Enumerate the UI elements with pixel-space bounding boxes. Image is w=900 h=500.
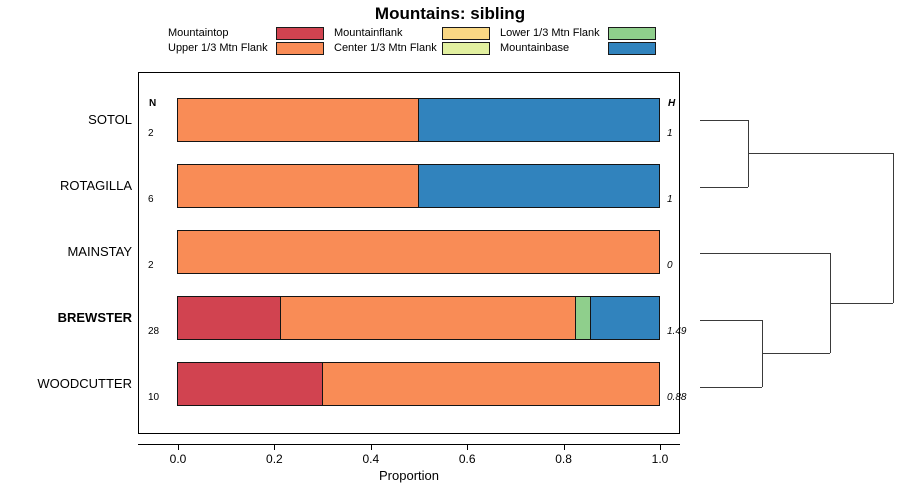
legend-color-swatch: [608, 27, 656, 40]
h-value: 0.88: [667, 392, 686, 403]
bar-segment[interactable]: [322, 362, 660, 406]
x-axis-line: [138, 444, 680, 445]
dendrogram-link: [700, 253, 830, 254]
h-value: 1: [667, 128, 673, 139]
n-column-header: N: [149, 98, 156, 109]
x-axis-tick: [660, 444, 661, 450]
x-axis-tick: [274, 444, 275, 450]
legend-item-label: Mountainbase: [500, 41, 569, 56]
dendrogram-link: [748, 153, 893, 154]
page-title: Mountains: sibling: [0, 4, 900, 24]
x-axis-tick-label: 0.6: [437, 452, 497, 466]
x-axis-tick-label: 0.2: [244, 452, 304, 466]
legend-color-swatch: [276, 27, 324, 40]
dendrogram: [690, 72, 900, 434]
bar-segment[interactable]: [177, 98, 419, 142]
stacked-bar[interactable]: [178, 98, 660, 142]
x-axis-tick: [178, 444, 179, 450]
n-value: 6: [148, 194, 154, 205]
chart-root: Mountains: sibling MountaintopUpper 1/3 …: [0, 0, 900, 500]
x-axis-tick: [564, 444, 565, 450]
x-axis-tick-label: 1.0: [630, 452, 690, 466]
stacked-bar[interactable]: [178, 164, 660, 208]
dendrogram-link: [700, 120, 748, 121]
dendrogram-link: [762, 353, 830, 354]
legend-color-swatch: [608, 42, 656, 55]
dendrogram-link: [700, 320, 762, 321]
h-value: 0: [667, 260, 673, 271]
stacked-bar[interactable]: [178, 296, 660, 340]
legend: MountaintopUpper 1/3 Mtn FlankMountainfl…: [168, 26, 688, 56]
legend-color-swatch: [276, 42, 324, 55]
bar-segment[interactable]: [280, 296, 576, 340]
dendrogram-link: [893, 153, 894, 303]
dendrogram-link: [700, 387, 762, 388]
legend-item-label: Center 1/3 Mtn Flank: [334, 41, 437, 56]
n-value: 28: [148, 326, 159, 337]
x-axis-title: Proportion: [138, 468, 680, 483]
legend-item-label: Upper 1/3 Mtn Flank: [168, 41, 268, 56]
y-axis-label: SOTOL: [88, 112, 132, 127]
h-column-header: H: [668, 98, 675, 109]
stacked-bar[interactable]: [178, 230, 660, 274]
dendrogram-link: [830, 303, 893, 304]
bar-segment[interactable]: [590, 296, 660, 340]
x-axis-tick: [371, 444, 372, 450]
y-axis-label: ROTAGILLA: [60, 178, 132, 193]
x-axis-tick-label: 0.4: [341, 452, 401, 466]
bar-segment[interactable]: [575, 296, 591, 340]
bar-segment[interactable]: [177, 164, 419, 208]
n-value: 2: [148, 128, 154, 139]
legend-item-label: Mountaintop: [168, 26, 229, 41]
bar-segment[interactable]: [177, 296, 281, 340]
n-value: 10: [148, 392, 159, 403]
y-axis-label: BREWSTER: [58, 310, 132, 325]
stacked-bar[interactable]: [178, 362, 660, 406]
n-value: 2: [148, 260, 154, 271]
legend-color-swatch: [442, 27, 490, 40]
x-axis-tick: [467, 444, 468, 450]
legend-color-swatch: [442, 42, 490, 55]
x-axis-tick-label: 0.0: [148, 452, 208, 466]
bar-segment[interactable]: [418, 98, 660, 142]
legend-item-label: Lower 1/3 Mtn Flank: [500, 26, 600, 41]
bar-segment[interactable]: [177, 362, 323, 406]
dendrogram-link: [700, 187, 748, 188]
h-value: 1: [667, 194, 673, 205]
bar-segment[interactable]: [177, 230, 660, 274]
x-axis-tick-label: 0.8: [534, 452, 594, 466]
h-value: 1.49: [667, 326, 686, 337]
y-axis-label: WOODCUTTER: [37, 376, 132, 391]
legend-item-label: Mountainflank: [334, 26, 403, 41]
y-axis-label: MAINSTAY: [67, 244, 132, 259]
bar-segment[interactable]: [418, 164, 660, 208]
